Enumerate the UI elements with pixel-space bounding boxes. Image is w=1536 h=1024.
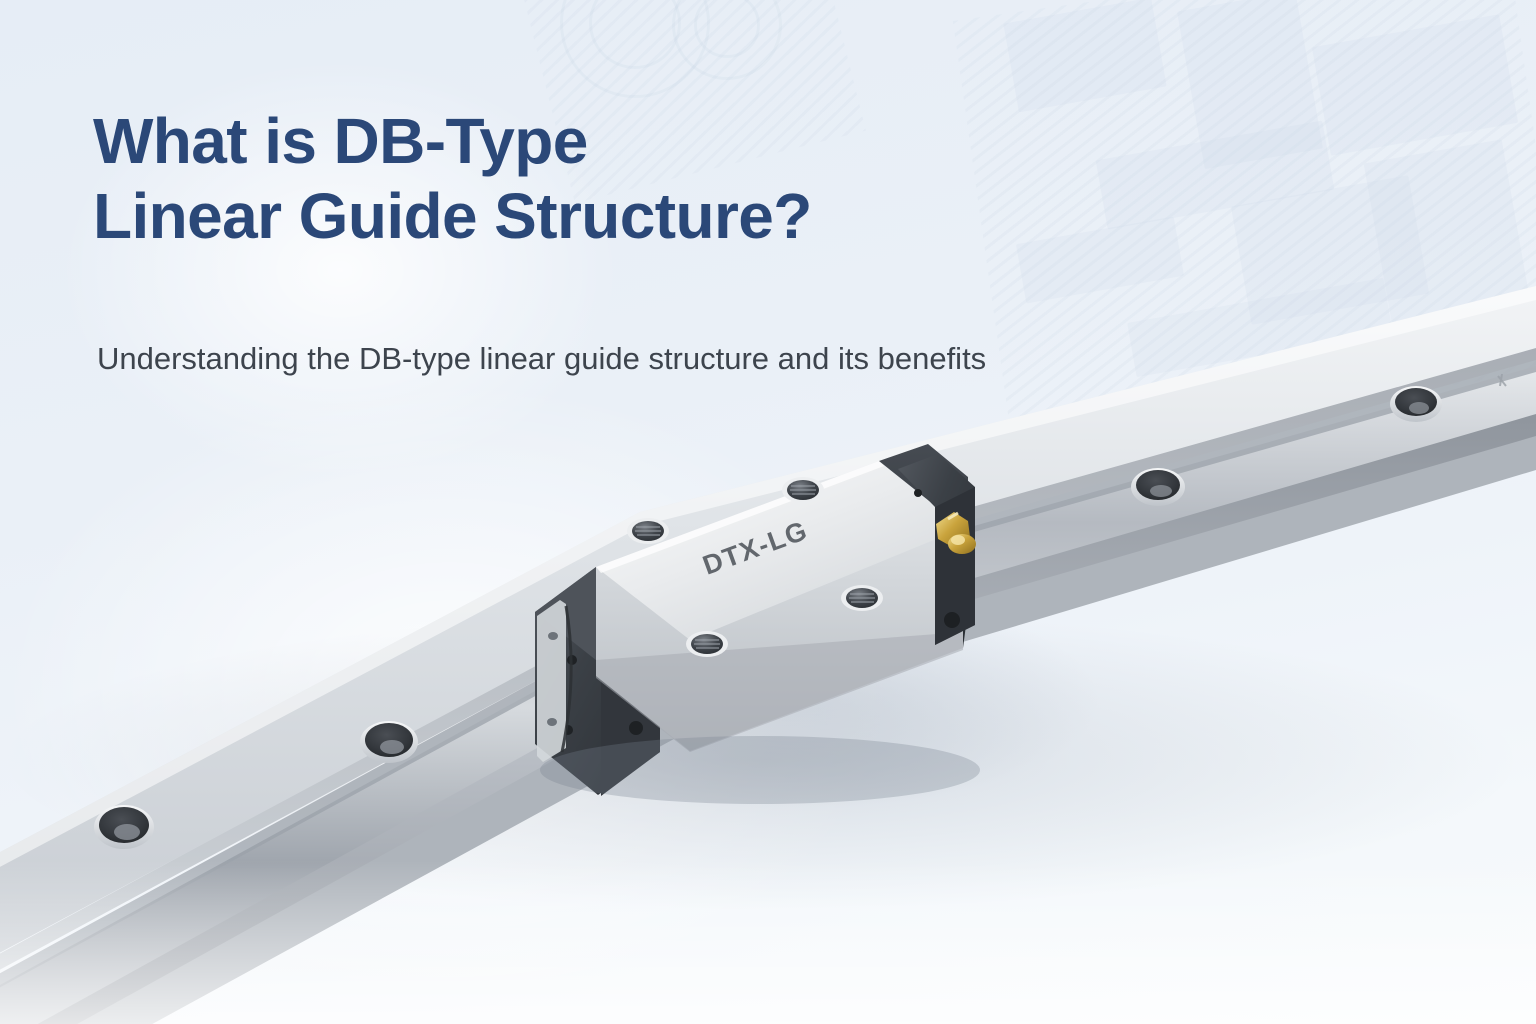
page-title-line-2: Linear Guide Structure? (93, 179, 1043, 254)
carriage-scraper-plate (537, 600, 566, 762)
rail-chamfer (0, 344, 1536, 1002)
rail-engraving-mark (1498, 374, 1506, 386)
carriage-block: DTX-LG (535, 444, 980, 804)
carriage-label: DTX-LG (699, 515, 812, 581)
carriage-top-face (596, 461, 963, 640)
page-title: What is DB-Type Linear Guide Structure? (93, 104, 1043, 254)
rail-side-face (0, 366, 1536, 1024)
carriage-threaded-holes (627, 477, 883, 657)
threaded-hole (627, 518, 669, 544)
watermark-block (1177, 0, 1323, 169)
grease-nipple (936, 512, 976, 554)
watermark-block (1096, 121, 1335, 230)
page-subtitle: Understanding the DB-type linear guide s… (97, 337, 1097, 381)
rail-hole (1131, 468, 1185, 506)
cap-hole (914, 489, 922, 497)
carriage-front-face (596, 461, 963, 751)
cap-hole (597, 626, 605, 634)
rail-hole (1390, 386, 1442, 422)
rail-hole (94, 805, 154, 849)
cap-hole (944, 612, 960, 628)
cap-hole (563, 725, 573, 735)
rail-top-face (0, 286, 1536, 990)
watermark-block (1003, 0, 1166, 112)
watermark-block (1127, 278, 1393, 377)
watermark-block (1312, 14, 1518, 155)
threaded-hole (841, 585, 883, 611)
watermark-gear-icon (560, 0, 710, 98)
carriage-end-cap-left (535, 567, 660, 796)
watermark-block (1364, 139, 1536, 360)
threaded-hole (782, 477, 824, 503)
rail-bottom-face (0, 428, 1536, 1024)
cap-hole (567, 655, 577, 665)
carriage-end-cap-right (879, 444, 975, 648)
rail-groove-lower (0, 410, 1536, 1024)
rail-hole (360, 721, 418, 763)
threaded-hole (686, 631, 728, 657)
rail-groove-upper (0, 358, 1536, 1020)
hero-banner: DTX-LG What is DB-Type (0, 0, 1536, 1024)
watermark-gear-icon (672, 0, 782, 80)
cap-hole (629, 721, 643, 735)
rail-mounting-holes (94, 386, 1442, 849)
page-title-line-1: What is DB-Type (93, 105, 588, 177)
watermark-block (1231, 175, 1429, 324)
watermark-softlight (0, 380, 900, 1000)
